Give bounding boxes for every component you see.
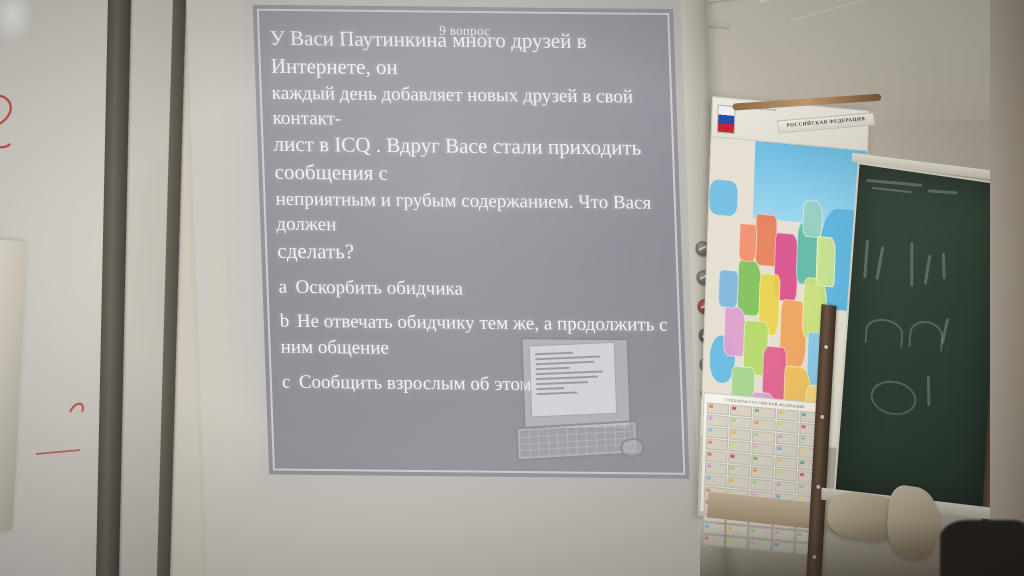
question-line: сделать? bbox=[277, 237, 668, 269]
legend-cell bbox=[753, 419, 776, 432]
legend-cell bbox=[752, 431, 775, 444]
legend-cell bbox=[776, 409, 799, 422]
option-letter: b bbox=[279, 309, 297, 335]
green-chalkboard[interactable] bbox=[834, 162, 1009, 513]
legend-cell bbox=[751, 479, 774, 492]
question-line: каждый день добавляет новых друзей в сво… bbox=[271, 81, 663, 136]
mouse-icon bbox=[619, 437, 646, 459]
legend-cell bbox=[753, 407, 776, 420]
interactive-whiteboard[interactable]: 9 вопрос У Васи Паутинкина много друзей … bbox=[186, 0, 727, 576]
legend-cell bbox=[775, 445, 798, 458]
map-region bbox=[802, 199, 824, 239]
legend-cell bbox=[728, 452, 751, 465]
question-text: У Васи Паутинкина много друзей в Интерне… bbox=[269, 25, 668, 270]
legend-cell bbox=[729, 440, 752, 453]
map-region bbox=[816, 236, 837, 287]
legend-cell bbox=[705, 462, 728, 475]
option-text: Сообщить взрослым об этом bbox=[299, 371, 533, 394]
legend-cell bbox=[776, 433, 799, 446]
question-line: У Васи Паутинкина много друзей в Интерне… bbox=[269, 25, 661, 85]
right-wall-edge bbox=[990, 0, 1024, 576]
legend-cell bbox=[707, 414, 730, 427]
legend-cell bbox=[705, 450, 728, 463]
question-line: лист в ICQ . Вдруг Васе стали приходить … bbox=[273, 131, 665, 191]
dark-object-bottom-right bbox=[940, 520, 1024, 576]
red-marker-scribble bbox=[34, 446, 94, 460]
legend-cell bbox=[752, 443, 775, 456]
legend-cell bbox=[730, 416, 753, 429]
answer-option-a: aОскорбить обидчика bbox=[278, 274, 669, 304]
legend-cell bbox=[776, 421, 799, 434]
map-region bbox=[718, 269, 738, 308]
legend-cell bbox=[704, 474, 727, 487]
option-letter: c bbox=[281, 369, 299, 395]
legend-cell bbox=[706, 426, 729, 439]
projected-slide: 9 вопрос У Васи Паутинкина много друзей … bbox=[253, 5, 690, 479]
legend-cell bbox=[706, 438, 729, 451]
legend-cell bbox=[707, 402, 730, 415]
question-line: неприятным и грубым содержанием. Что Вас… bbox=[275, 187, 667, 242]
legend-cell bbox=[729, 428, 752, 441]
legend-cell bbox=[728, 464, 751, 477]
red-marker-scribble bbox=[0, 90, 46, 172]
computer-clipart-icon bbox=[512, 337, 647, 466]
baltic-sea bbox=[709, 179, 738, 217]
glare-highlight bbox=[0, 0, 34, 44]
monitor-screen bbox=[529, 342, 617, 418]
legend-cell bbox=[728, 476, 751, 489]
map-region bbox=[738, 223, 757, 262]
legend-cell bbox=[730, 404, 753, 417]
legend-cell bbox=[775, 457, 798, 470]
legend-cell bbox=[751, 467, 774, 480]
legend-cell bbox=[774, 469, 797, 482]
option-text: Оскорбить обидчика bbox=[295, 277, 463, 300]
legend-cell bbox=[774, 481, 797, 494]
legend-cell bbox=[752, 455, 775, 468]
option-letter: a bbox=[278, 274, 296, 300]
keyboard-icon bbox=[516, 420, 639, 461]
classroom-scene: 9 вопрос У Васи Паутинкина много друзей … bbox=[0, 0, 1024, 576]
